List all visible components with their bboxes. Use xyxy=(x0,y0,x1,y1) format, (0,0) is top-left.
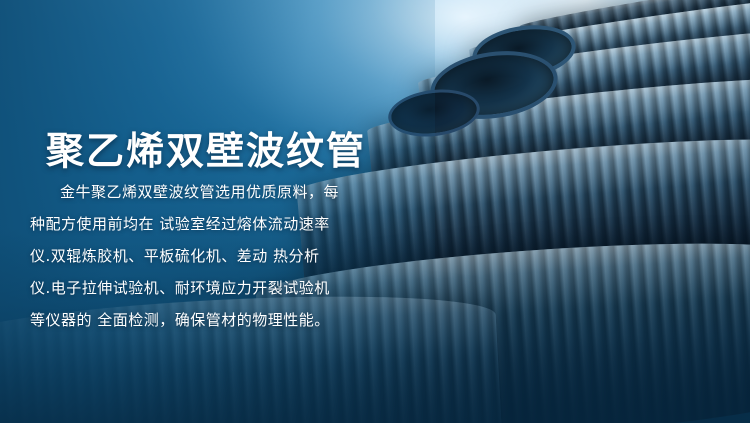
banner-description: 金牛聚乙烯双壁波纹管选用优质原料，每种配方使用前均在 试验室经过熔体流动速率仪.… xyxy=(30,176,340,336)
banner-content: 聚乙烯双壁波纹管 金牛聚乙烯双壁波纹管选用优质原料，每种配方使用前均在 试验室经… xyxy=(0,0,750,423)
banner-description-text: 金牛聚乙烯双壁波纹管选用优质原料，每种配方使用前均在 试验室经过熔体流动速率仪.… xyxy=(30,176,340,336)
product-banner: 聚乙烯双壁波纹管 金牛聚乙烯双壁波纹管选用优质原料，每种配方使用前均在 试验室经… xyxy=(0,0,750,423)
banner-headline: 聚乙烯双壁波纹管 xyxy=(46,120,366,175)
